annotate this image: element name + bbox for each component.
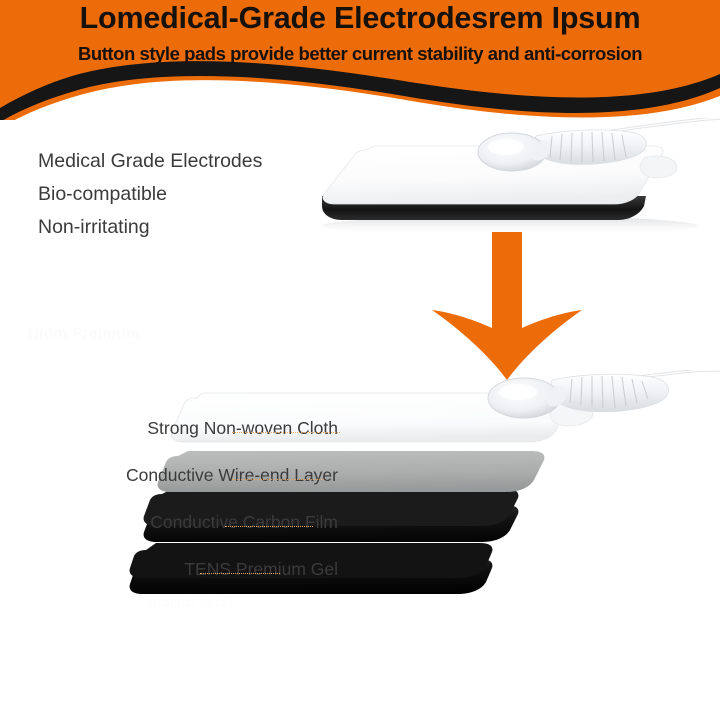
down-arrow	[432, 232, 582, 380]
electrode-pad-assembled	[300, 118, 720, 243]
leader-line	[200, 573, 280, 574]
label-text: TENS Premium Gel	[184, 559, 340, 579]
watermark-text: Hidm Premium	[28, 325, 140, 342]
label-text: Strong Non-woven Cloth	[147, 418, 340, 438]
label-tens-premium-gel: TENS Premium Gel	[0, 559, 340, 580]
label-text: Conductive Carbon Film	[150, 512, 340, 532]
label-conductive-wire-end-layer: Conductive Wire-end Layer	[0, 465, 340, 486]
infographic-page: Lomedical-Grade Electrodesrem Ipsum Butt…	[0, 0, 720, 720]
page-title: Lomedical-Grade Electrodesrem Ipsum	[0, 1, 720, 36]
page-subtitle: Button style pads provide better current…	[0, 43, 720, 65]
pad-tab	[640, 156, 677, 178]
leader-line	[225, 526, 313, 527]
label-strong-non-woven-cloth: Strong Non-woven Cloth	[0, 418, 340, 439]
leader-line	[232, 479, 324, 480]
leader-line	[232, 432, 340, 433]
label-text: Conductive Wire-end Layer	[126, 465, 340, 485]
label-conductive-carbon-film: Conductive Carbon Film	[0, 512, 340, 533]
header-banner: Lomedical-Grade Electrodesrem Ipsum Butt…	[0, 0, 720, 120]
arrow-shape	[432, 232, 582, 380]
